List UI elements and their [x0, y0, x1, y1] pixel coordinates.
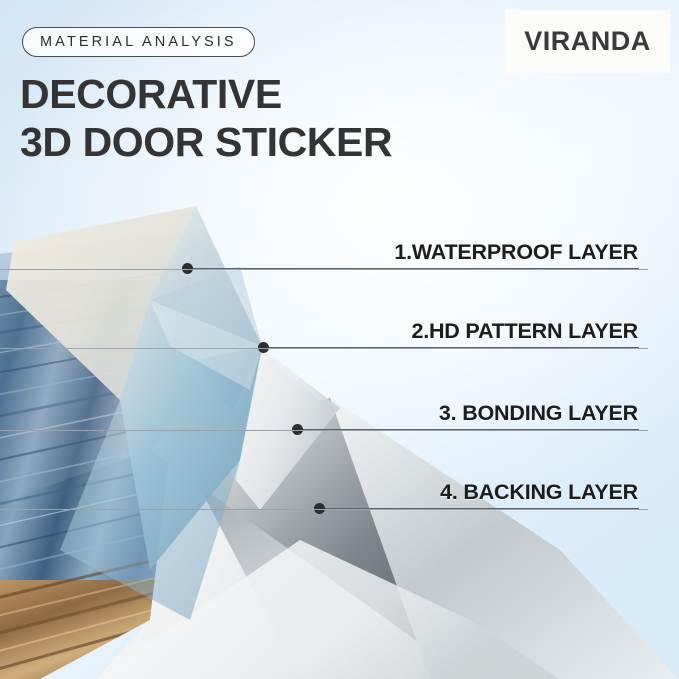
material-analysis-badge: MATERIAL ANALYSIS — [22, 27, 255, 57]
callout-rule-4 — [0, 509, 648, 510]
callout-label-2: 2.HD PATTERN LAYER — [0, 319, 648, 344]
callout-label-1: 1.WATERPROOF LAYER — [0, 240, 648, 265]
brand-logo: VIRANDA — [505, 10, 670, 73]
callout-1[interactable]: 1.WATERPROOF LAYER — [0, 240, 648, 270]
title-line-1: DECORATIVE — [20, 71, 282, 117]
callout-4[interactable]: 4. BACKING LAYER — [0, 480, 648, 510]
callout-label-4: 4. BACKING LAYER — [0, 480, 648, 505]
callout-3[interactable]: 3. BONDING LAYER — [0, 401, 648, 431]
callout-rule-2 — [0, 348, 648, 349]
brand-logo-text: VIRANDA — [524, 26, 651, 57]
callout-2[interactable]: 2.HD PATTERN LAYER — [0, 319, 648, 349]
callout-rule-1 — [0, 269, 648, 270]
callout-rule-3 — [0, 430, 648, 431]
callout-label-3: 3. BONDING LAYER — [0, 401, 648, 426]
infographic-canvas: MATERIAL ANALYSIS DECORATIVE 3D DOOR STI… — [0, 0, 679, 679]
badge-label: MATERIAL ANALYSIS — [40, 34, 237, 50]
